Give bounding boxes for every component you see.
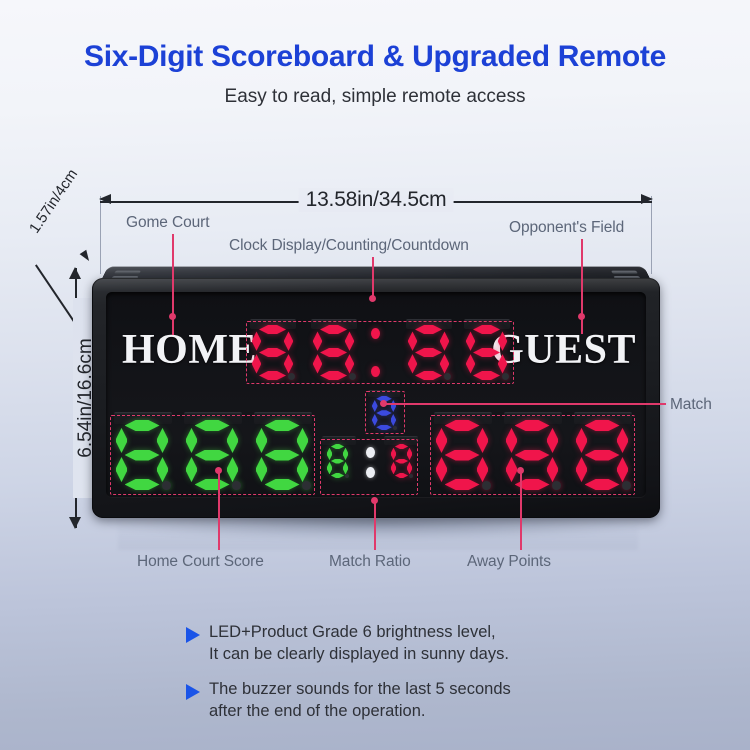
callout-home-court-score: Home Court Score bbox=[137, 553, 264, 571]
leader-dot-away-points bbox=[517, 467, 524, 474]
arrow-up-icon bbox=[69, 267, 81, 279]
feature-list: LED+Product Grade 6 brightness level, It… bbox=[186, 622, 606, 736]
leader-dot-match-ratio bbox=[371, 497, 378, 504]
callout-opponents-field: Opponent's Field bbox=[509, 219, 624, 237]
arrow-left-icon bbox=[99, 194, 111, 204]
vent-slot-left bbox=[114, 271, 141, 274]
leader-dot-match bbox=[380, 400, 387, 407]
vent-slot-right bbox=[611, 271, 638, 274]
feature-item-1-text: LED+Product Grade 6 brightness level, It… bbox=[209, 622, 509, 666]
feature-item-1-line1: LED+Product Grade 6 brightness level, bbox=[209, 622, 509, 644]
depth-dimension-label: 1.57in/4cm bbox=[26, 166, 81, 236]
match-number-highlight-box bbox=[365, 391, 405, 434]
width-dimension-label: 13.58in/34.5cm bbox=[299, 188, 454, 212]
callout-game-court: Gome Court bbox=[126, 214, 209, 232]
leader-dot-game-court bbox=[169, 313, 176, 320]
arrow-down-icon bbox=[69, 517, 81, 529]
header: Six-Digit Scoreboard & Upgraded Remote E… bbox=[0, 0, 750, 108]
feature-item-2-text: The buzzer sounds for the last 5 seconds… bbox=[209, 679, 511, 723]
leader-match bbox=[383, 403, 666, 405]
width-dimension: 13.58in/34.5cm bbox=[100, 190, 652, 212]
callout-clock-display: Clock Display/Counting/Countdown bbox=[229, 237, 469, 255]
leader-dot-opponents-field bbox=[578, 313, 585, 320]
clock-display-highlight-box bbox=[246, 321, 514, 384]
leader-home-court-score bbox=[218, 470, 220, 550]
leader-dot-clock-display bbox=[369, 295, 376, 302]
scoreboard-display-panel: HOME GUEST bbox=[106, 292, 646, 498]
feature-item-1: LED+Product Grade 6 brightness level, It… bbox=[186, 622, 606, 666]
arrow-right-icon bbox=[641, 194, 653, 204]
page-title: Six-Digit Scoreboard & Upgraded Remote bbox=[0, 41, 750, 73]
product-reflection bbox=[118, 516, 638, 550]
leader-match-ratio bbox=[374, 500, 376, 550]
callout-away-points: Away Points bbox=[467, 553, 551, 571]
scoreboard-housing: HOME GUEST bbox=[92, 278, 660, 518]
leader-dot-home-court-score bbox=[215, 467, 222, 474]
feature-item-2-line2: after the end of the operation. bbox=[209, 701, 511, 723]
callout-match: Match bbox=[670, 396, 712, 414]
feature-item-1-line2: It can be clearly displayed in sunny day… bbox=[209, 644, 509, 666]
home-score-highlight-box bbox=[110, 415, 315, 495]
height-dimension: 6.54in/16.6cm bbox=[64, 268, 88, 528]
ratio-highlight-box bbox=[320, 439, 418, 495]
home-team-label: HOME bbox=[122, 326, 257, 374]
feature-item-2: The buzzer sounds for the last 5 seconds… bbox=[186, 679, 606, 723]
callout-match-ratio: Match Ratio bbox=[329, 553, 411, 571]
arrow-right-icon bbox=[186, 627, 200, 643]
arrow-right-icon bbox=[186, 684, 200, 700]
away-score-highlight-box bbox=[430, 415, 635, 495]
page-subtitle: Easy to read, simple remote access bbox=[0, 86, 750, 108]
feature-item-2-line1: The buzzer sounds for the last 5 seconds bbox=[209, 679, 511, 701]
leader-away-points bbox=[520, 470, 522, 550]
